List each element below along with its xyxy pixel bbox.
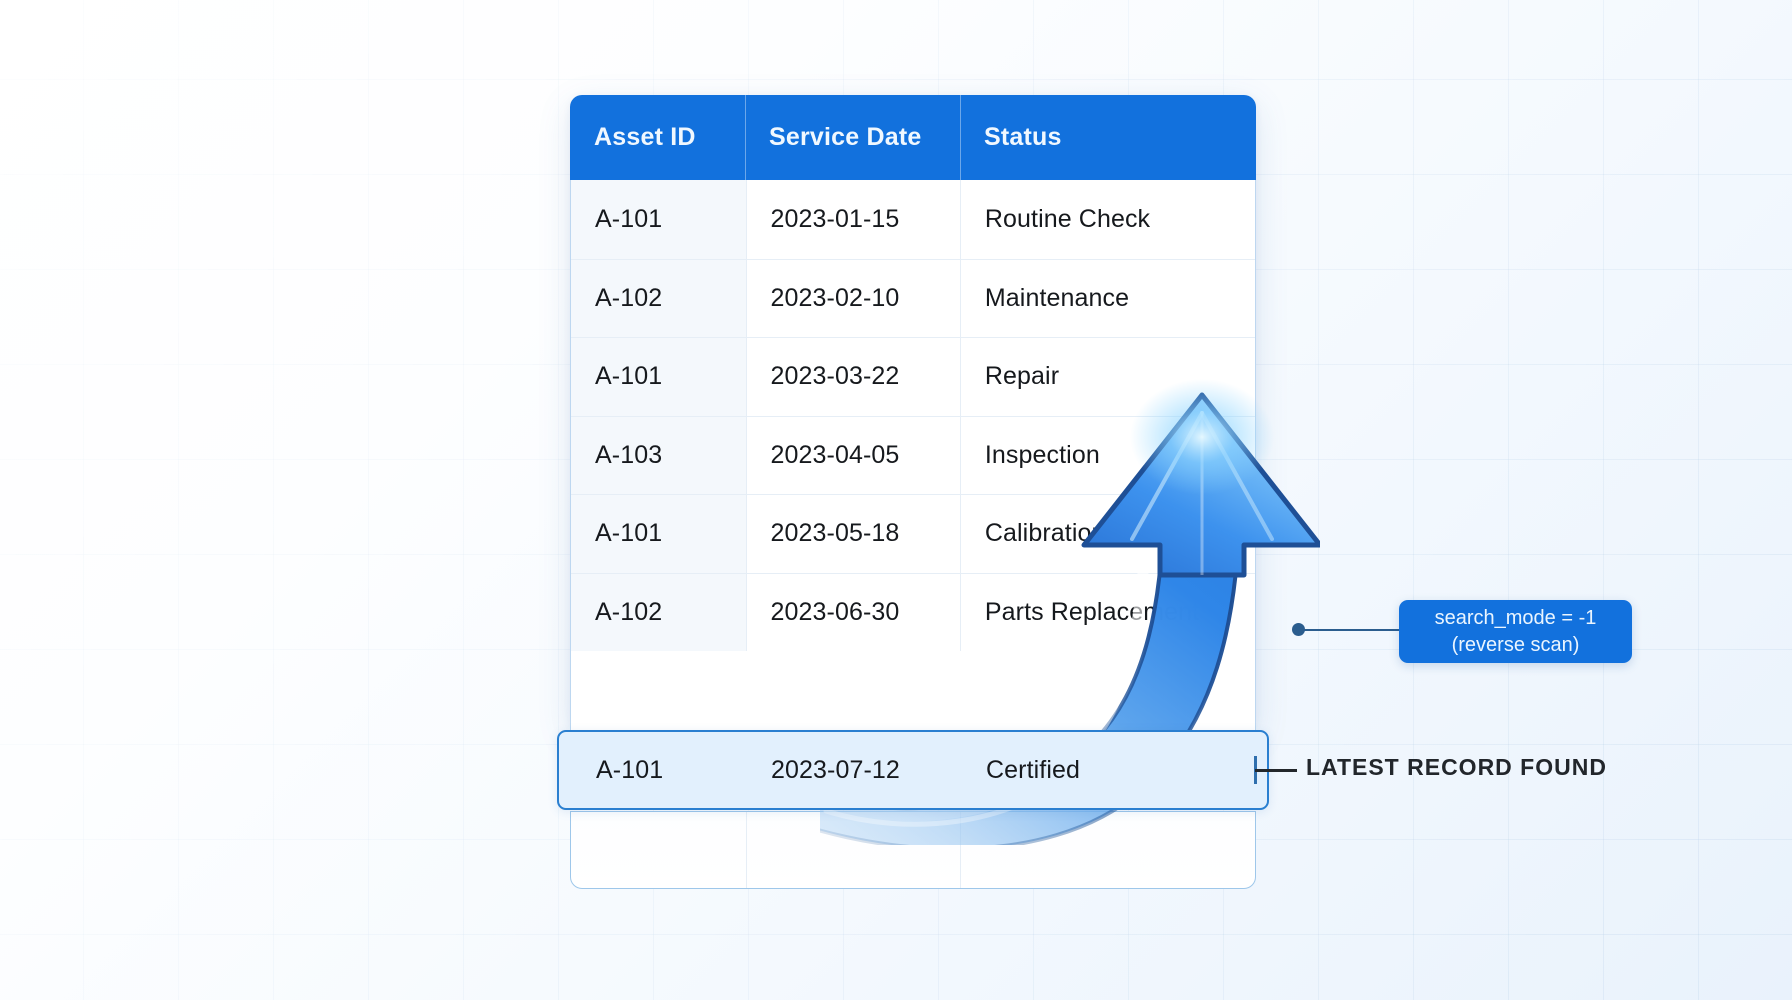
- table-row[interactable]: A-103 2023-04-05 Inspection: [571, 416, 1255, 495]
- cell-asset-id: [571, 812, 746, 888]
- cell-asset-id: A-101: [559, 732, 747, 808]
- cell-status: Parts Replacement: [960, 574, 1255, 652]
- cell-service-date: 2023-03-22: [746, 338, 960, 416]
- badge-anchor-dot: [1292, 623, 1305, 636]
- column-header-asset-id[interactable]: Asset ID: [570, 95, 745, 180]
- table-header-row: Asset ID Service Date Status: [570, 95, 1256, 180]
- table-row[interactable]: A-102 2023-06-30 Parts Replacement: [571, 573, 1255, 652]
- cell-service-date: 2023-05-18: [746, 495, 960, 573]
- cell-asset-id: A-101: [571, 338, 746, 416]
- table-row[interactable]: A-102 2023-02-10 Maintenance: [571, 259, 1255, 338]
- cell-service-date: 2023-06-30: [746, 574, 960, 652]
- cell-service-date: 2023-02-10: [746, 260, 960, 338]
- cell-asset-id: A-101: [571, 495, 746, 573]
- search-mode-badge-line2: (reverse scan): [1452, 632, 1580, 658]
- cell-status: Maintenance: [960, 260, 1255, 338]
- table-empty-row: [570, 811, 1256, 889]
- cell-asset-id: A-103: [571, 417, 746, 495]
- maintenance-records-table: Asset ID Service Date Status A-101 2023-…: [570, 95, 1256, 731]
- cell-status: Routine Check: [960, 180, 1255, 259]
- cell-service-date: 2023-04-05: [746, 417, 960, 495]
- search-mode-badge-line1: search_mode = -1: [1435, 605, 1597, 631]
- cell-service-date: 2023-07-12: [747, 732, 962, 808]
- highlighted-result-row[interactable]: A-101 2023-07-12 Certified: [557, 730, 1269, 810]
- cell-asset-id: A-101: [571, 180, 746, 259]
- diagram-canvas: Asset ID Service Date Status A-101 2023-…: [0, 0, 1792, 1000]
- column-header-service-date[interactable]: Service Date: [745, 95, 960, 180]
- cell-status: Repair: [960, 338, 1255, 416]
- cell-asset-id: A-102: [571, 260, 746, 338]
- cell-service-date: [746, 812, 960, 888]
- latest-record-label: LATEST RECORD FOUND: [1306, 754, 1607, 781]
- cell-status: Calibration: [960, 495, 1255, 573]
- cell-asset-id: A-102: [571, 574, 746, 652]
- cell-status: Inspection: [960, 417, 1255, 495]
- latest-record-connector-line: [1255, 769, 1297, 772]
- cell-service-date: 2023-01-15: [746, 180, 960, 259]
- cell-status: [960, 812, 1255, 888]
- cell-status: Certified: [962, 732, 1258, 808]
- badge-connector-line: [1298, 629, 1400, 631]
- search-mode-badge[interactable]: search_mode = -1 (reverse scan): [1399, 600, 1632, 663]
- table-row[interactable]: A-101 2023-01-15 Routine Check: [571, 180, 1255, 259]
- table-body: A-101 2023-01-15 Routine Check A-102 202…: [570, 180, 1256, 731]
- table-row[interactable]: A-101 2023-03-22 Repair: [571, 337, 1255, 416]
- table-row[interactable]: A-101 2023-05-18 Calibration: [571, 494, 1255, 573]
- column-header-status[interactable]: Status: [960, 95, 1256, 180]
